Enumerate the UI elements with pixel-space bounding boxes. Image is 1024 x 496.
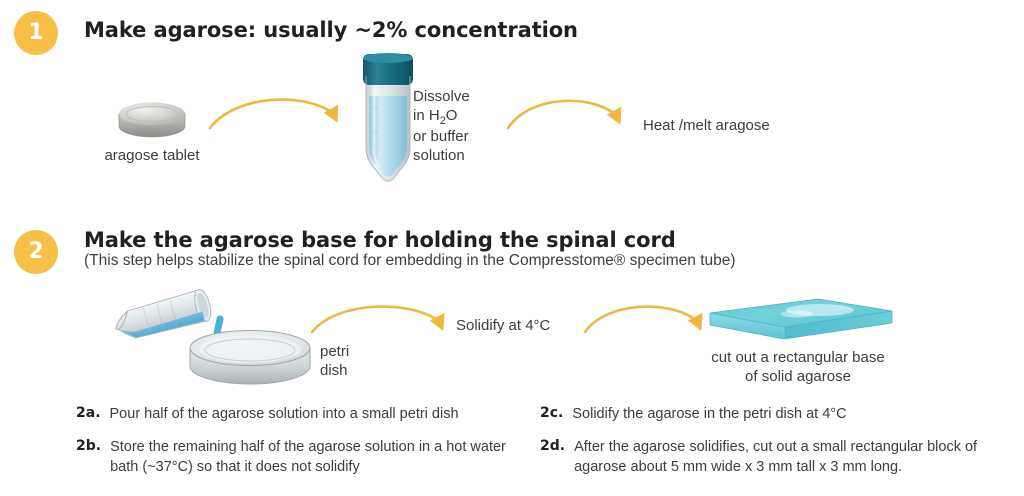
petri-dish-illustration	[186, 330, 314, 388]
caption-cut-out-base: cut out a rectangular base of solid agar…	[668, 349, 928, 387]
caption-petri-line1: petri	[320, 343, 349, 362]
caption-cutout-line2: of solid agarose	[668, 368, 928, 387]
substep-2a: 2a. Pour half of the agarose solution in…	[76, 404, 526, 424]
step-badge-2: 2	[14, 230, 58, 274]
arrow-tablet-to-tube	[206, 88, 352, 136]
caption-dissolve-h2o-post: O	[446, 107, 458, 124]
substep-2b-key: 2b.	[76, 437, 101, 456]
step-title-1: Make agarose: usually ~2% concentration	[84, 18, 578, 42]
agarose-tablet-illustration	[112, 96, 192, 142]
substep-2c-text: Solidify the agarose in the petri dish a…	[572, 404, 970, 424]
caption-petri-dish: petri dish	[320, 343, 349, 381]
caption-solidify: Solidify at 4°C	[456, 317, 550, 336]
caption-dissolve-line3: or buffer	[413, 128, 518, 147]
step-badge-1: 1	[14, 11, 58, 55]
substep-2d-text: After the agarose solidifies, cut out a …	[574, 437, 990, 477]
caption-dissolve-line1: Dissolve	[413, 88, 518, 107]
arrow-dish-to-solidify	[308, 296, 456, 342]
protocol-diagram: 1 Make agarose: usually ~2% concentratio…	[0, 0, 1024, 496]
caption-petri-line2: dish	[320, 362, 349, 381]
substep-2b-text: Store the remaining half of the agarose …	[110, 437, 506, 477]
agarose-slab-illustration	[702, 297, 894, 349]
caption-agarose-tablet: aragose tablet	[78, 147, 226, 166]
caption-dissolve-h2o-pre: in H	[413, 107, 440, 124]
substep-2d: 2d. After the agarose solidifies, cut ou…	[540, 437, 990, 477]
substep-2a-text: Pour half of the agarose solution into a…	[110, 404, 526, 424]
step-title-2: Make the agarose base for holding the sp…	[84, 228, 676, 252]
caption-heat-melt: Heat /melt aragose	[643, 117, 770, 136]
conical-tube-illustration	[358, 52, 418, 184]
step-number-2: 2	[28, 241, 43, 263]
step-number-1: 1	[28, 22, 43, 44]
caption-cutout-line1: cut out a rectangular base	[668, 349, 928, 368]
substep-2a-key: 2a.	[76, 404, 101, 423]
caption-dissolve-line2: in H2O	[413, 107, 518, 128]
substep-2d-key: 2d.	[540, 437, 565, 456]
caption-dissolve-line4: solution	[413, 147, 518, 166]
substep-2c: 2c. Solidify the agarose in the petri di…	[540, 404, 970, 424]
substep-2c-key: 2c.	[540, 404, 563, 423]
arrow-solidify-to-gel	[582, 296, 714, 342]
arrow-tube-to-heat	[505, 88, 630, 136]
caption-dissolve: Dissolve in H2O or buffer solution	[413, 88, 518, 166]
step-subtitle-2: (This step helps stabilize the spinal co…	[84, 252, 736, 270]
substep-2b: 2b. Store the remaining half of the agar…	[76, 437, 506, 477]
